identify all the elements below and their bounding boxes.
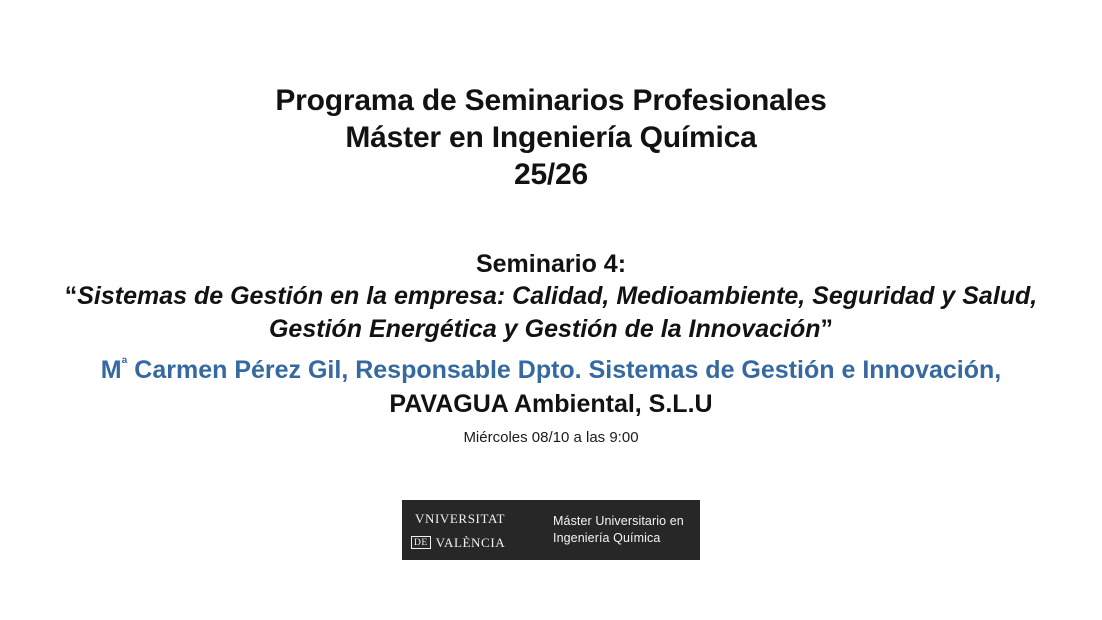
speaker-block: Mª Carmen Pérez Gil, Responsable Dpto. S…: [0, 354, 1102, 448]
speaker-name-line-1: Carmen Pérez Gil, Responsable Dpto. Sist…: [127, 356, 855, 384]
seminar-title: “Sistemas de Gestión en la empresa: Cali…: [0, 280, 1102, 346]
uv-de-mark: De: [411, 536, 431, 549]
universitat-de-valencia-logo: Vniversitat DeValència: [411, 509, 535, 551]
speaker-name-prefix: M: [101, 356, 122, 384]
speaker-company: PAVAGUA Ambiental, S.L.U: [0, 388, 1102, 421]
speaker-name-line-2: Innovación,: [862, 356, 1001, 384]
program-title-line-2: Máster en Ingeniería Química: [0, 119, 1102, 156]
master-program-line-2: Ingeniería Química: [553, 530, 690, 547]
uv-valencia-text: València: [436, 532, 506, 552]
seminar-title-line-1: Sistemas de Gestión en la empresa: Calid…: [77, 282, 805, 310]
seminar-block: Seminario 4: “Sistemas de Gestión en la …: [0, 248, 1102, 346]
close-quote: ”: [821, 315, 834, 343]
seminar-number-label: Seminario 4:: [0, 248, 1102, 280]
open-quote: “: [65, 282, 78, 310]
speaker-name: Mª Carmen Pérez Gil, Responsable Dpto. S…: [0, 354, 1102, 387]
program-heading: Programa de Seminarios Profesionales Más…: [0, 82, 1102, 193]
slide-canvas: Programa de Seminarios Profesionales Más…: [0, 0, 1102, 620]
program-academic-year: 25/26: [0, 156, 1102, 193]
session-datetime: Miércoles 08/10 a las 9:00: [0, 428, 1102, 448]
program-title-line-1: Programa de Seminarios Profesionales: [0, 82, 1102, 119]
master-program-name: Máster Universitario en Ingeniería Quími…: [553, 513, 690, 547]
master-program-line-1: Máster Universitario en: [553, 513, 690, 530]
uv-logo-line-2: DeValència: [411, 533, 535, 552]
logo-banner: Vniversitat DeValència Máster Universita…: [402, 500, 700, 560]
uv-logo-line-1: Vniversitat: [411, 509, 535, 528]
